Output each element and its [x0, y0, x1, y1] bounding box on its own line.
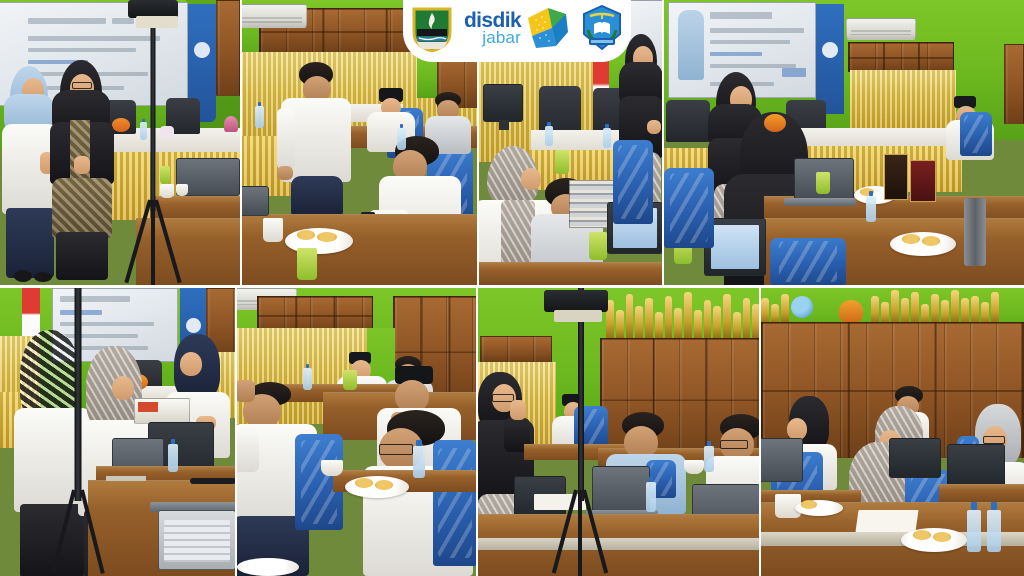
- panel-top-right: [664, 0, 1024, 285]
- divider-vertical-top-1: [240, 0, 242, 286]
- camera-tripod: [58, 288, 98, 576]
- camera-tripod: [552, 288, 610, 576]
- plate-of-snacks: [285, 228, 353, 254]
- disdik-wordmark-main: disdik: [464, 11, 521, 30]
- flower-vase: [839, 300, 863, 322]
- disdik-mark-icon: [524, 6, 570, 50]
- green-cup: [297, 248, 317, 280]
- blue-school-flag: [816, 4, 844, 114]
- divider-vertical-bottom-2: [476, 286, 478, 576]
- globe-icon: [791, 296, 813, 318]
- white-cup: [263, 218, 283, 242]
- trophies: [871, 288, 1024, 324]
- disdik-wordmark-sub: jabar: [482, 30, 521, 46]
- school-emblem-icon: [580, 4, 624, 52]
- panel-bottom-right: [761, 288, 1024, 576]
- panel-bottom-center-left: [237, 288, 477, 576]
- monitor: [483, 84, 523, 122]
- divider-vertical-bottom-1: [235, 286, 237, 576]
- camera-icon: [544, 290, 608, 312]
- panel-top-left: [0, 0, 240, 285]
- disdik-jabar-logo: disdik jabar: [464, 6, 570, 50]
- jabar-emblem-icon: [410, 4, 454, 52]
- trophy-display: [606, 292, 760, 340]
- logo-badge: disdik jabar: [403, 0, 631, 62]
- person-woman-black-batik: [48, 60, 118, 285]
- air-conditioner: [846, 18, 916, 40]
- divider-vertical-bottom-3: [759, 286, 761, 576]
- person-man-standing-white-shirt: [277, 62, 353, 214]
- panel-bottom-left: [0, 288, 236, 576]
- air-conditioner: [241, 4, 307, 28]
- coffee-cup: [321, 460, 343, 476]
- divider-horizontal: [0, 285, 1024, 288]
- photo-collage: disdik jabar: [0, 0, 1024, 576]
- divider-vertical-top-3: [662, 0, 664, 286]
- panel-bottom-center-right: [478, 288, 760, 576]
- camera-tripod: [124, 0, 182, 285]
